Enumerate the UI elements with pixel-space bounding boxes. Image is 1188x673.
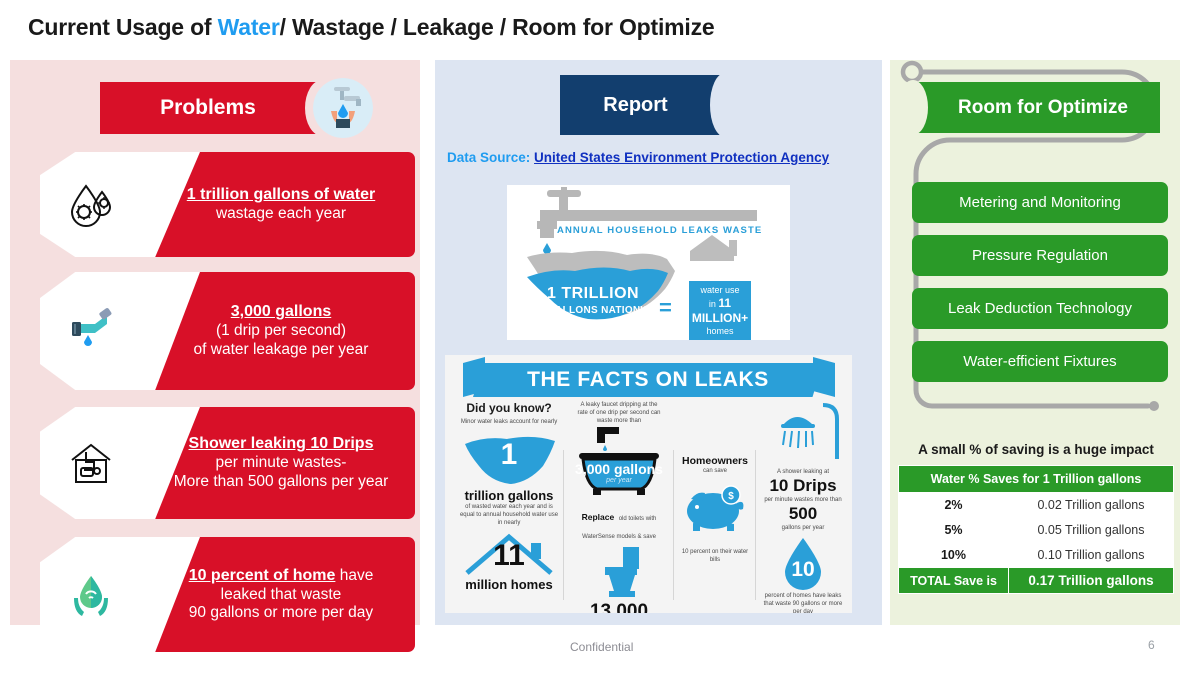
facts-big-number-2: 11 <box>459 539 559 573</box>
problem-card: 1 trillion gallons of water wastage each… <box>40 152 415 257</box>
box-line2: in <box>709 299 716 309</box>
problems-header-banner: Problems <box>100 82 322 134</box>
infographic-homes-box: water use in 11 MILLION+ homes <box>689 281 751 340</box>
table-cell-value: 0.02 Trillion gallons <box>1009 493 1174 518</box>
faucet-hands-water-icon <box>313 78 373 138</box>
problem-card: 10 percent of home have leaked that wast… <box>40 537 415 652</box>
infographic-equals: = <box>659 295 672 321</box>
page-title: Current Usage of Water/ Wastage / Leakag… <box>28 14 714 41</box>
facts-col-title: Homeowners <box>679 455 751 467</box>
table-cell-value: 0.10 Trillion gallons <box>1009 543 1174 568</box>
facts-small-bottom: percent of homes have leaks that waste 9… <box>761 592 845 613</box>
report-panel: Report Data Source: United States Enviro… <box>435 60 882 625</box>
facts-column: Did you know? Minor water leaks account … <box>459 401 559 592</box>
infographic-map-sub: GALLONS NATIONWIDE <box>547 305 668 316</box>
facts-col-small: can save <box>679 467 751 475</box>
problem-card: Shower leaking 10 Drips per minute waste… <box>40 407 415 519</box>
problem-card-text: 3,000 gallons (1 drip per second) of wat… <box>194 302 369 360</box>
data-source-row: Data Source: United States Environment P… <box>447 150 829 165</box>
problems-header-label: Problems <box>160 96 256 120</box>
box-number: 11 <box>718 296 731 310</box>
problem-card-text: 10 percent of home have leaked that wast… <box>189 566 374 624</box>
problem-card-text: Shower leaking 10 Drips per minute waste… <box>174 434 389 492</box>
optimize-item-label: Water-efficient Fixtures <box>963 353 1116 370</box>
problem-card-lead: 10 percent of home <box>189 567 336 584</box>
table-cell-percent: 10% <box>899 543 1009 568</box>
report-header-label: Report <box>603 94 667 117</box>
savings-table: Water % Saves for 1 Trillion gallons 2% … <box>898 465 1174 594</box>
title-suffix: / Wastage / Leakage / Room for Optimize <box>280 14 715 40</box>
facts-bottom-label: million homes <box>459 577 559 592</box>
facts-drop-number: 10 <box>761 558 845 582</box>
footer-confidential: Confidential <box>570 640 633 654</box>
facts-small-sub: per year <box>571 477 667 484</box>
facts-big-number: 1 <box>459 438 559 472</box>
data-source-label: Data Source: <box>447 150 530 165</box>
water-drops-germs-icon <box>64 178 118 232</box>
problem-card-lead: 1 trillion gallons of water <box>187 186 375 203</box>
optimize-item-label: Leak Deduction Technology <box>948 300 1132 317</box>
box-line4: homes <box>706 326 733 336</box>
table-total-label: TOTAL Save is <box>899 568 1009 594</box>
problem-card-text: 1 trillion gallons of water wastage each… <box>187 185 375 224</box>
page-number: 6 <box>1148 638 1155 652</box>
problem-card-line: More than 500 gallons per year <box>174 473 389 490</box>
svg-text:$: $ <box>728 491 734 502</box>
table-cell-percent: 5% <box>899 518 1009 543</box>
optimize-panel: Room for Optimize Metering and Monitorin… <box>890 60 1180 625</box>
facts-title-2: Replace <box>582 512 615 522</box>
table-cell-value: 0.05 Trillion gallons <box>1009 518 1174 543</box>
problem-card-line: of water leakage per year <box>194 341 369 358</box>
optimize-header-banner: Room for Optimize <box>912 82 1160 133</box>
table-header-cell: Water % Saves for 1 Trillion gallons <box>899 466 1174 493</box>
facts-small-sub: gallons per year <box>761 524 845 532</box>
facts-col-small-mid: of wasted water each year and is equal t… <box>459 503 559 527</box>
problem-card-lead: 3,000 gallons <box>231 303 332 320</box>
optimize-item-leak-deduction[interactable]: Leak Deduction Technology <box>912 288 1168 329</box>
facts-col-small: A shower leaking at <box>761 468 845 476</box>
optimize-item-metering[interactable]: Metering and Monitoring <box>912 182 1168 223</box>
problem-card-line: per minute wastes- <box>216 454 347 471</box>
table-row: 10% 0.10 Trillion gallons <box>899 543 1174 568</box>
box-line3: MILLION+ <box>692 311 748 325</box>
optimize-item-label: Pressure Regulation <box>972 247 1108 264</box>
problem-card-lead-suffix: have <box>335 567 373 584</box>
table-row: 2% 0.02 Trillion gallons <box>899 493 1174 518</box>
infographic-annual-leaks: ANNUAL HOUSEHOLD LEAKS WASTE 1 TRILLION … <box>507 185 790 340</box>
facts-col-title: Did you know? <box>459 401 559 415</box>
table-header-row: Water % Saves for 1 Trillion gallons <box>899 466 1174 493</box>
facts-big-number-2: 13,000 <box>571 601 667 613</box>
optimize-item-label: Metering and Monitoring <box>959 194 1121 211</box>
title-highlight: Water <box>218 14 280 40</box>
infographic-caption: ANNUAL HOUSEHOLD LEAKS WASTE <box>557 225 762 236</box>
problem-card-line: (1 drip per second) <box>216 322 346 339</box>
facts-mid-label: trillion gallons <box>459 488 559 503</box>
facts-banner-label: THE FACTS ON LEAKS <box>527 368 769 392</box>
facts-column: A leaky faucet dripping at the rate of o… <box>571 401 667 613</box>
problem-card-line: wastage each year <box>216 205 346 222</box>
optimize-item-pressure[interactable]: Pressure Regulation <box>912 235 1168 276</box>
table-total-row: TOTAL Save is 0.17 Trillion gallons <box>899 568 1174 594</box>
table-total-value: 0.17 Trillion gallons <box>1009 568 1174 594</box>
house-plumbing-icon <box>64 436 118 490</box>
problems-panel: Problems 1 trillion gallons of water was… <box>10 60 420 625</box>
problem-card-line: leaked that waste <box>221 586 342 603</box>
box-line1: water use <box>700 285 739 295</box>
facts-big-number-2: 500 <box>761 504 845 524</box>
optimize-item-fixtures[interactable]: Water-efficient Fixtures <box>912 341 1168 382</box>
leaking-pipe-icon <box>64 304 118 358</box>
facts-banner: THE FACTS ON LEAKS <box>473 363 823 397</box>
savings-table-caption: A small % of saving is a huge impact <box>900 442 1172 457</box>
facts-column: Homeowners can save $ 10 percent on thei… <box>679 455 751 564</box>
infographic-map-value: 1 TRILLION <box>547 285 639 303</box>
facts-big-number: 3,000 gallons <box>571 461 667 477</box>
optimize-header-label: Room for Optimize <box>958 97 1128 119</box>
title-prefix: Current Usage of <box>28 14 218 40</box>
facts-small-bottom: 10 percent on their water bills <box>679 548 751 564</box>
facts-small-mid: per minute wastes more than <box>761 496 845 504</box>
table-row: 5% 0.05 Trillion gallons <box>899 518 1174 543</box>
facts-big-number: 10 Drips <box>761 476 845 496</box>
facts-col-small: A leaky faucet dripping at the rate of o… <box>571 401 667 425</box>
problem-card-line: 90 gallons or more per day <box>189 604 373 621</box>
report-header-banner: Report <box>560 75 725 135</box>
data-source-link[interactable]: United States Environment Protection Age… <box>534 150 829 165</box>
facts-column: A shower leaking at 10 Drips per minute … <box>761 401 845 613</box>
problem-card: 3,000 gallons (1 drip per second) of wat… <box>40 272 415 390</box>
problem-card-lead: Shower leaking 10 Drips <box>189 435 374 452</box>
hands-water-leaf-icon <box>64 568 118 622</box>
facts-col-small: Minor water leaks account for nearly <box>459 418 559 426</box>
table-cell-percent: 2% <box>899 493 1009 518</box>
infographic-facts-on-leaks: THE FACTS ON LEAKS Did you know? Minor w… <box>445 355 852 613</box>
